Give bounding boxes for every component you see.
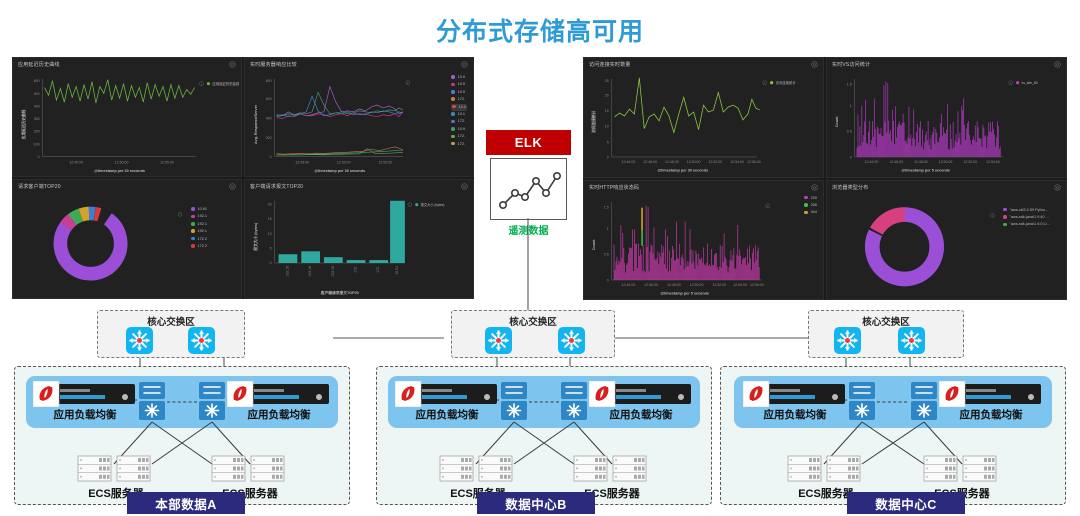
svg-text:20: 20 <box>605 93 609 97</box>
svg-text:1: 1 <box>850 104 852 108</box>
svg-text:1.5: 1.5 <box>847 83 852 87</box>
plot-area: 00.5 11.5 12:44:0012:46:00 12:48:0012:50… <box>584 194 823 300</box>
svg-text:@timestamp per 30 seconds: @timestamp per 30 seconds <box>657 169 708 173</box>
svg-text:12:52:00: 12:52:00 <box>712 282 726 286</box>
load-balancer-right[interactable]: 应用负载均衡 <box>589 381 693 427</box>
legend-item[interactable]: 10.9 <box>451 89 467 96</box>
svg-text:1: 1 <box>607 227 609 231</box>
legend: "aws-cli/2.0.59 Pytho... "aws-sdk-java/1… <box>1003 207 1050 229</box>
switch-icon[interactable] <box>485 327 512 354</box>
svg-text:12:56:00: 12:56:00 <box>747 160 761 164</box>
dc-switch-icon[interactable] <box>499 381 529 421</box>
panel-app-latency-history[interactable]: 应用延迟历史曲线 0100 200300 400500 600 12:45:00… <box>12 57 242 177</box>
svg-text:客户端请求报文TOP20: 客户端请求报文TOP20 <box>320 290 359 295</box>
svg-text:12:44:00: 12:44:00 <box>622 282 636 286</box>
svg-text:12:46:00: 12:46:00 <box>643 160 657 164</box>
lb-device-icon <box>227 381 331 407</box>
svg-text:0: 0 <box>270 155 272 159</box>
gear-icon[interactable] <box>229 61 236 68</box>
legend-item[interactable]: 10.9 <box>451 74 467 81</box>
svg-text:12:50:00: 12:50:00 <box>939 160 953 164</box>
load-balancer-left[interactable]: 应用负载均衡 <box>33 381 137 427</box>
legend-item[interactable]: 10.91 <box>191 206 207 213</box>
panel-title: 实时服务器响应比较 <box>250 61 297 68</box>
load-balancer-left[interactable]: 应用负载均衡 <box>395 381 499 427</box>
svg-text:12:50:00: 12:50:00 <box>337 160 351 164</box>
core-switch-zone-left: 核心交换区 <box>97 310 245 358</box>
svg-text:12:54:00: 12:54:00 <box>986 160 1000 164</box>
svg-text:0: 0 <box>270 261 272 265</box>
panel-title: 浏览器类型分布 <box>832 184 868 191</box>
datacenter-b: 应用负载均衡 应用负载均衡 ECS服务器 <box>376 366 712 505</box>
svg-text:i: i <box>180 213 181 217</box>
dc-switch-icon[interactable] <box>909 381 939 421</box>
svg-text:5: 5 <box>270 246 272 250</box>
dc-switch-icon[interactable] <box>197 381 227 421</box>
svg-text:@timestamp per 30 seconds: @timestamp per 30 seconds <box>94 169 145 173</box>
svg-text:12:45:00: 12:45:00 <box>295 160 309 164</box>
svg-text:Avg. Response/Server: Avg. Response/Server <box>254 104 258 144</box>
lb-label: 应用负载均衡 <box>743 407 847 422</box>
svg-text:192.16: 192.16 <box>331 266 335 277</box>
panel-title: 应用延迟历史曲线 <box>18 61 60 68</box>
plot-area: 05 101520 192.16 192.16 192.16 172. 17 <box>245 193 473 298</box>
svg-text:12:48:00: 12:48:00 <box>667 282 681 286</box>
legend-item[interactable]: 404 <box>804 209 817 216</box>
lb-label: 应用负载均衡 <box>33 407 137 422</box>
svg-text:12:46:00: 12:46:00 <box>644 282 658 286</box>
gear-icon[interactable] <box>461 183 468 190</box>
ecs-servers-right[interactable]: ECS服务器 <box>923 455 1001 497</box>
dashboard-left: 应用延迟历史曲线 0100 200300 400500 600 12:45:00… <box>12 57 474 299</box>
lb-device-icon <box>743 381 847 407</box>
legend-item[interactable]: 172. <box>451 96 467 103</box>
core-switch-zone-middle: 核心交换区 <box>451 310 615 358</box>
datacenter-badge-a: 本部数据A <box>127 492 245 514</box>
dc-switch-icon[interactable] <box>559 381 589 421</box>
legend-item[interactable]: 10.1 <box>451 104 467 111</box>
ecs-servers-right[interactable]: ECS服务器 <box>573 455 651 497</box>
gear-icon[interactable] <box>1054 61 1061 68</box>
legend: 10.9 10.9 10.9 172. 10.1 10.1 172. 10.9 … <box>451 74 467 148</box>
svg-text:12:50:00: 12:50:00 <box>690 282 704 286</box>
svg-text:12:56:00: 12:56:00 <box>750 282 764 286</box>
svg-text:12:55:00: 12:55:00 <box>160 160 174 164</box>
svg-text:12:50:00: 12:50:00 <box>687 160 701 164</box>
core-zone-title: 核心交换区 <box>98 314 244 328</box>
panel-title: 访问连接实时数量 <box>589 61 631 68</box>
svg-text:vs_site_80: vs_site_80 <box>1022 81 1038 85</box>
svg-text:12:52:00: 12:52:00 <box>963 160 977 164</box>
gear-icon[interactable] <box>461 61 468 68</box>
svg-text:300: 300 <box>34 117 40 121</box>
svg-text:12:52:00: 12:52:00 <box>708 160 722 164</box>
svg-text:12:46:00: 12:46:00 <box>889 160 903 164</box>
svg-text:@timestamp per 5 seconds: @timestamp per 5 seconds <box>901 169 950 173</box>
panel-client-request-bytes-top20[interactable]: 客户端请求报文TOP20 05 101520 192.16 <box>244 179 474 299</box>
panel-server-response-compare[interactable]: 实时服务器响应比较 0200 400600800 12:45:0012:50:0… <box>244 57 474 177</box>
dc-switch-icon[interactable] <box>847 381 877 421</box>
donut-chart <box>861 202 949 290</box>
dashboard-right: 访问连接实时数量 05 1015 2025 12:44:0012:46:00 1… <box>583 57 1067 300</box>
svg-text:访问连接统计: 访问连接统计 <box>591 110 596 132</box>
svg-text:12:45:00: 12:45:00 <box>69 160 83 164</box>
gear-icon[interactable] <box>811 184 818 191</box>
svg-text:172.: 172. <box>354 266 358 273</box>
svg-text:报文大小 (bytes): 报文大小 (bytes) <box>253 222 258 251</box>
gear-icon[interactable] <box>1054 184 1061 191</box>
svg-text:12:50:00: 12:50:00 <box>115 160 129 164</box>
panel-title: 客户端请求报文TOP20 <box>250 183 303 190</box>
svg-text:i: i <box>992 213 993 217</box>
panel-request-clients-top20[interactable]: 请求客户端TOP20 i 10.91 192.1 192.1 192.1 <box>12 179 242 299</box>
switch-icon[interactable] <box>126 327 153 354</box>
svg-text:12:55:00: 12:55:00 <box>378 160 392 164</box>
ecs-servers-right[interactable]: ECS服务器 <box>211 455 289 497</box>
elk-chart-box <box>490 158 567 220</box>
legend-item[interactable]: "aws-cli/2.0.59 Pytho... <box>1003 207 1050 214</box>
elk-title: ELK <box>486 130 571 155</box>
svg-text:25: 25 <box>605 79 609 83</box>
legend-item[interactable]: 192.1 <box>191 228 207 235</box>
svg-text:1.5: 1.5 <box>604 205 609 209</box>
svg-text:600: 600 <box>266 97 272 101</box>
lb-device-icon <box>589 381 693 407</box>
lb-label: 应用负载均衡 <box>395 407 499 422</box>
svg-text:0: 0 <box>607 278 609 282</box>
svg-text:10.91: 10.91 <box>395 266 399 275</box>
panel-vs-access-stats[interactable]: 实时VS访问统计 00.5 11.5 12:44:0012:46:00 12:4… <box>826 57 1067 178</box>
panel-http-status-codes[interactable]: 实时HTTP响应状态码 00.5 11.5 12:44:0012:46:00 1… <box>583 180 824 301</box>
svg-text:600: 600 <box>34 79 40 83</box>
svg-text:访问连接统计: 访问连接统计 <box>776 80 797 85</box>
svg-text:10: 10 <box>605 125 609 129</box>
panel-title: 实时VS访问统计 <box>832 61 870 68</box>
lb-label: 应用负载均衡 <box>939 407 1043 422</box>
svg-text:192.16: 192.16 <box>285 266 289 277</box>
legend-item[interactable]: 206 <box>804 202 817 209</box>
svg-text:0.5: 0.5 <box>847 130 852 134</box>
svg-text:报文大小 (bytes): 报文大小 (bytes) <box>421 202 445 207</box>
svg-text:i: i <box>408 81 409 85</box>
svg-text:应用延迟历史曲线: 应用延迟历史曲线 <box>21 109 26 139</box>
lb-label: 应用负载均衡 <box>227 407 331 422</box>
svg-text:i: i <box>1010 81 1011 85</box>
donut-chart <box>48 201 132 285</box>
legend-item[interactable]: 10.9 <box>451 126 467 133</box>
svg-text:@timestamp per 30 seconds: @timestamp per 30 seconds <box>314 169 365 173</box>
plot-area: 0200 400600800 12:45:0012:50:0012:55:00 … <box>245 71 473 176</box>
switch-icon[interactable] <box>188 327 215 354</box>
svg-text:0: 0 <box>850 155 852 159</box>
load-balancer-left[interactable]: 应用负载均衡 <box>743 381 847 427</box>
datacenter-badge-c: 数据中心C <box>847 492 965 514</box>
svg-text:0.5: 0.5 <box>604 252 609 256</box>
legend-item[interactable]: "aws-sdk-java/1.9.0 Li... <box>1003 221 1050 228</box>
legend-item[interactable]: 172.2 <box>191 243 207 250</box>
core-zone-title: 核心交换区 <box>452 314 614 328</box>
svg-text:i: i <box>201 82 202 86</box>
datacenter-badge-b: 数据中心B <box>477 492 595 514</box>
ecs-servers-left[interactable]: ECS服务器 <box>77 455 155 497</box>
legend-item[interactable]: 172. <box>451 133 467 140</box>
svg-text:20: 20 <box>268 203 272 207</box>
ecs-servers-left[interactable]: ECS服务器 <box>787 455 865 497</box>
legend-item[interactable]: "aws-sdk-java/1.9.40 ... <box>1003 214 1050 221</box>
load-balancer-right[interactable]: 应用负载均衡 <box>939 381 1043 427</box>
lb-label: 应用负载均衡 <box>589 407 693 422</box>
panel-active-connections[interactable]: 访问连接实时数量 05 1015 2025 12:44:0012:46:00 1… <box>583 57 824 178</box>
svg-text:10: 10 <box>268 232 272 236</box>
datacenter-a: 应用负载均衡 应用负载均衡 ECS服务器 <box>14 366 350 505</box>
plot-area: 05 1015 2025 12:44:0012:46:00 12:48:0012… <box>584 71 823 177</box>
legend-item[interactable]: 10.1 <box>451 111 467 118</box>
svg-text:12:44:00: 12:44:00 <box>865 160 879 164</box>
legend-item[interactable]: 172. <box>451 141 467 148</box>
lb-device-icon <box>395 381 499 407</box>
elk-telemetry-label: 遥测数据 <box>486 222 571 237</box>
panel-title: 请求客户端TOP20 <box>18 183 61 190</box>
svg-text:i: i <box>410 203 411 207</box>
legend-item[interactable]: 10.9 <box>451 81 467 88</box>
svg-text:12:44:00: 12:44:00 <box>622 160 636 164</box>
legend-item[interactable]: 200 <box>804 195 817 202</box>
panel-browser-type-distribution[interactable]: 浏览器类型分布 i "aws-cli/2.0.59 Pytho... "aws-… <box>826 180 1067 301</box>
legend-item[interactable]: 192.1 <box>191 213 207 220</box>
plot-area: 0100 200300 400500 600 12:45:0012:50:001… <box>13 71 241 176</box>
core-zone-title: 核心交换区 <box>809 314 963 328</box>
svg-text:15: 15 <box>268 217 272 221</box>
svg-text:200: 200 <box>266 136 272 140</box>
svg-text:12:48:00: 12:48:00 <box>914 160 928 164</box>
legend-item[interactable]: 192.1 <box>191 221 207 228</box>
svg-text:应用延迟历史曲线: 应用延迟历史曲线 <box>212 81 240 86</box>
svg-text:800: 800 <box>266 79 272 83</box>
datacenter-c: 应用负载均衡 应用负载均衡 ECS服务器 <box>720 366 1066 505</box>
svg-text:i: i <box>767 203 768 207</box>
gear-icon[interactable] <box>811 61 818 68</box>
load-balancer-right[interactable]: 应用负载均衡 <box>227 381 331 427</box>
core-switch-zone-right: 核心交换区 <box>808 310 964 358</box>
svg-text:192.16: 192.16 <box>308 266 312 277</box>
svg-text:12:54:00: 12:54:00 <box>730 160 744 164</box>
svg-text:Count: Count <box>835 116 839 127</box>
ecs-servers-left[interactable]: ECS服务器 <box>439 455 517 497</box>
svg-text:0: 0 <box>607 155 609 159</box>
legend-item[interactable]: 172. <box>451 118 467 125</box>
switch-icon[interactable] <box>834 327 861 354</box>
legend-item[interactable]: 172.2 <box>191 236 207 243</box>
svg-text:15: 15 <box>605 109 609 113</box>
legend: 200 206 404 <box>804 195 817 217</box>
plot-area: 00.5 11.5 12:44:0012:46:00 12:48:0012:50… <box>827 71 1066 177</box>
gear-icon[interactable] <box>229 183 236 190</box>
svg-text:12:54:00: 12:54:00 <box>733 282 747 286</box>
switch-icon[interactable] <box>898 327 925 354</box>
svg-text:500: 500 <box>34 92 40 96</box>
switch-icon[interactable] <box>558 327 585 354</box>
svg-text:i: i <box>764 81 765 85</box>
dc-switch-icon[interactable] <box>137 381 167 421</box>
svg-text:5: 5 <box>607 140 609 144</box>
svg-text:400: 400 <box>266 117 272 121</box>
svg-text:@timestamp per 5 seconds: @timestamp per 5 seconds <box>660 291 709 295</box>
svg-text:172.: 172. <box>376 266 380 273</box>
legend: 10.91 192.1 192.1 192.1 172.2 172.2 <box>191 206 207 250</box>
svg-text:200: 200 <box>34 130 40 134</box>
elk-node[interactable]: ELK 遥测数据 <box>486 130 571 260</box>
svg-text:400: 400 <box>34 104 40 108</box>
panel-title: 实时HTTP响应状态码 <box>589 184 639 191</box>
svg-text:12:48:00: 12:48:00 <box>665 160 679 164</box>
page-title: 分布式存储高可用 <box>0 12 1080 48</box>
lb-device-icon <box>33 381 137 407</box>
svg-text:Count: Count <box>592 238 596 249</box>
lb-device-icon <box>939 381 1043 407</box>
svg-text:0: 0 <box>38 155 40 159</box>
svg-text:100: 100 <box>34 142 40 146</box>
